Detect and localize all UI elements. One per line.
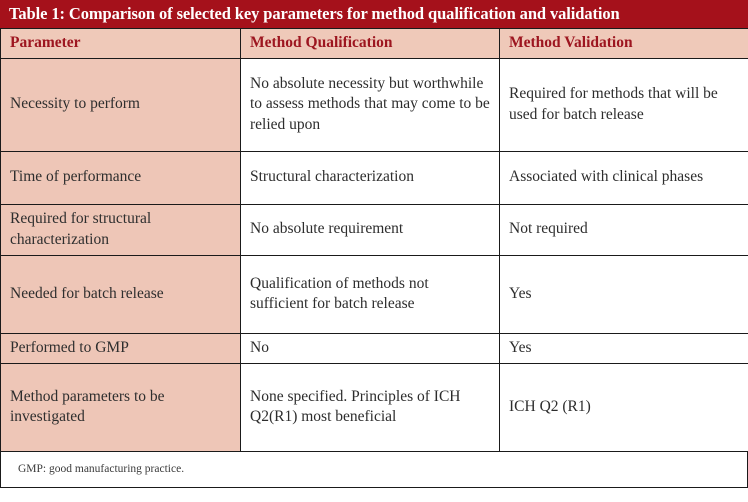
table-row: Necessity to perform No absolute necessi… [1,59,748,152]
cell-parameter: Necessity to perform [1,59,241,152]
cell-parameter: Required for structural characterization [1,205,241,256]
table-header-row: Parameter Method Qualification Method Va… [1,29,748,59]
table-row: Performed to GMP No Yes [1,334,748,364]
cell-parameter: Time of performance [1,152,241,205]
cell-method-validation: Not required [500,205,748,256]
table-row: Method parameters to be investigated Non… [1,364,748,452]
cell-method-validation: Yes [500,334,748,364]
cell-method-validation: Yes [500,256,748,334]
table-row: Needed for batch release Qualification o… [1,256,748,334]
cell-method-validation: ICH Q2 (R1) [500,364,748,452]
cell-method-qualification: Structural characterization [241,152,500,205]
cell-method-qualification: None specified. Principles of ICH Q2(R1)… [241,364,500,452]
cell-method-qualification: No absolute requirement [241,205,500,256]
cell-method-qualification: Qualification of methods not sufficient … [241,256,500,334]
comparison-table: Parameter Method Qualification Method Va… [0,28,748,452]
table-row: Time of performance Structural character… [1,152,748,205]
cell-method-qualification: No [241,334,500,364]
cell-method-validation: Associated with clinical phases [500,152,748,205]
table-figure: Table 1: Comparison of selected key para… [0,0,748,502]
column-header-parameter: Parameter [1,29,241,59]
column-header-method-qualification: Method Qualification [241,29,500,59]
cell-method-qualification: No absolute necessity but worthwhile to … [241,59,500,152]
column-header-method-validation: Method Validation [500,29,748,59]
cell-parameter: Performed to GMP [1,334,241,364]
table-footnote: GMP: good manufacturing practice. [0,452,748,488]
table-caption-title: Table 1: Comparison of selected key para… [0,0,748,28]
cell-parameter: Method parameters to be investigated [1,364,241,452]
table-row: Required for structural characterization… [1,205,748,256]
cell-parameter: Needed for batch release [1,256,241,334]
cell-method-validation: Required for methods that will be used f… [500,59,748,152]
